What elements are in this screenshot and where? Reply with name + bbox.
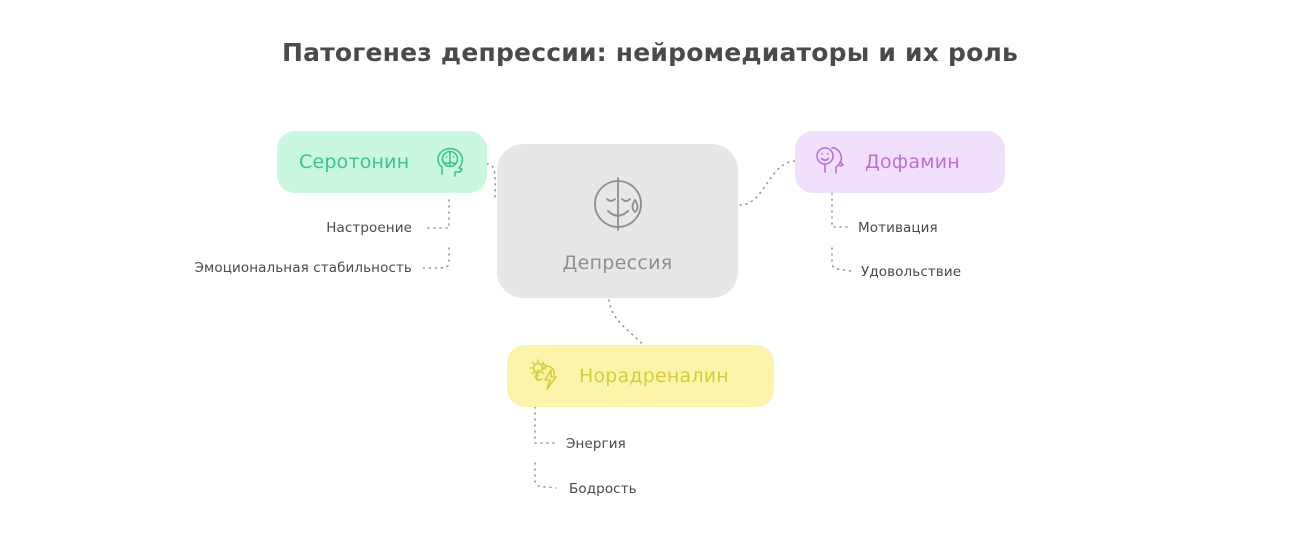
sublabel-serotonin-mood: Настроение bbox=[326, 220, 412, 236]
diagram-canvas: Патогенез депрессии: нейромедиаторы и их… bbox=[0, 0, 1300, 546]
sublabel-norepinephrine-vigor: Бодрость bbox=[569, 481, 637, 497]
connector-norepinephrine-sub-2 bbox=[535, 463, 556, 488]
node-serotonin[interactable]: Серотонин bbox=[277, 131, 487, 193]
connector-serotonin-sub-1 bbox=[424, 200, 449, 228]
connector-norepinephrine-sub-1 bbox=[535, 407, 554, 443]
connector-center-norepinephrine bbox=[609, 300, 643, 345]
head-profile-with-smiley-icon bbox=[813, 143, 851, 181]
half-happy-half-sad-face-with-tear-icon bbox=[582, 168, 654, 240]
connector-dopamine-sub-1 bbox=[832, 193, 848, 227]
node-dopamine-label: Дофамин bbox=[865, 151, 960, 173]
sublabel-dopamine-motivation: Мотивация bbox=[858, 220, 938, 236]
node-depression-label: Депрессия bbox=[562, 252, 672, 274]
node-depression[interactable]: Депрессия bbox=[497, 144, 738, 298]
page-title: Патогенез депрессии: нейромедиаторы и их… bbox=[0, 38, 1300, 67]
node-norepinephrine-label: Норадреналин bbox=[579, 365, 729, 387]
connector-dopamine-sub-2 bbox=[832, 248, 851, 271]
head-profile-with-face-icon bbox=[433, 144, 469, 180]
sublabel-serotonin-emotional-stability: Эмоциональная стабильность bbox=[195, 260, 412, 276]
sublabel-dopamine-pleasure: Удовольствие bbox=[861, 264, 961, 280]
sublabel-norepinephrine-energy: Энергия bbox=[566, 436, 626, 452]
connector-serotonin-sub-2 bbox=[422, 248, 449, 268]
connector-center-serotonin bbox=[487, 164, 495, 200]
node-norepinephrine[interactable]: Норадреналин bbox=[507, 345, 774, 407]
node-dopamine[interactable]: Дофамин bbox=[795, 131, 1005, 193]
connector-center-dopamine bbox=[740, 161, 795, 205]
sun-lightning-bolt-cycle-icon bbox=[525, 356, 565, 396]
node-serotonin-label: Серотонин bbox=[299, 151, 409, 173]
